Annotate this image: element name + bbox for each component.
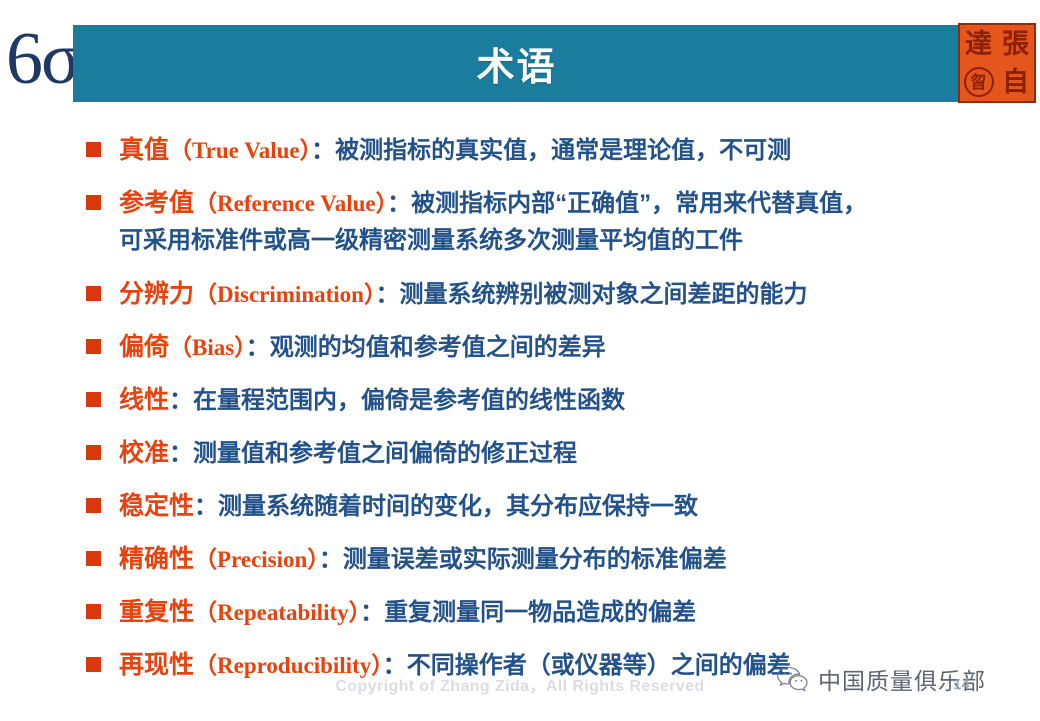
term-english: （Repeatability） bbox=[194, 600, 360, 625]
term-separator: ： bbox=[194, 493, 218, 520]
list-item: 精确性（Precision）：测量误差或实际测量分布的标准偏差 bbox=[86, 541, 986, 578]
seal-round-wrap: 曶 bbox=[960, 63, 997, 101]
term-definition-continued: 可采用标准件或高一级精密测量系统多次测量平均值的工件 bbox=[119, 222, 986, 260]
page-number: 14 bbox=[953, 676, 970, 693]
terminology-list: 真值（True Value）：被测指标的真实值，通常是理论值，不可测 参考值（R… bbox=[86, 132, 986, 700]
seal-char-4: 自 bbox=[997, 63, 1034, 101]
list-item: 分辨力（Discrimination）：测量系统辨别被测对象之间差距的能力 bbox=[86, 276, 986, 313]
list-item: 真值（True Value）：被测指标的真实值，通常是理论值，不可测 bbox=[86, 132, 986, 169]
term-name: 线性 bbox=[119, 386, 169, 414]
list-item: 线性：在量程范围内，偏倚是参考值的线性函数 bbox=[86, 382, 986, 419]
term-english: （Reference Value） bbox=[194, 191, 387, 216]
term-definition: 测量系统辨别被测对象之间差距的能力 bbox=[399, 281, 807, 308]
term-english: （True Value） bbox=[169, 138, 311, 163]
title-bar-content: 术语 bbox=[73, 25, 960, 102]
term-name: 稳定性 bbox=[119, 492, 194, 520]
term-english: （Precision） bbox=[194, 547, 319, 572]
term-name: 重复性 bbox=[119, 598, 194, 626]
page-title: 术语 bbox=[476, 36, 556, 91]
seal-char-3: 曶 bbox=[964, 67, 994, 97]
bullet-square-icon bbox=[86, 142, 101, 157]
bullet-square-icon bbox=[86, 498, 101, 513]
term-definition: 测量系统随着时间的变化，其分布应保持一致 bbox=[218, 493, 698, 520]
bullet-square-icon bbox=[86, 604, 101, 619]
list-item: 校准：测量值和参考值之间偏倚的修正过程 bbox=[86, 435, 986, 472]
term-line: 校准：测量值和参考值之间偏倚的修正过程 bbox=[119, 435, 986, 472]
term-definition: 在量程范围内，偏倚是参考值的线性函数 bbox=[193, 387, 625, 414]
term-name: 参考值 bbox=[119, 189, 194, 217]
term-line: 稳定性：测量系统随着时间的变化，其分布应保持一致 bbox=[119, 488, 986, 525]
term-definition: 被测指标的真实值，通常是理论值，不可测 bbox=[335, 137, 791, 164]
term-line: 分辨力（Discrimination）：测量系统辨别被测对象之间差距的能力 bbox=[119, 276, 986, 313]
term-definition: 观测的均值和参考值之间的差异 bbox=[270, 334, 606, 361]
wechat-icon bbox=[776, 665, 810, 693]
term-line: 真值（True Value）：被测指标的真实值，通常是理论值，不可测 bbox=[119, 132, 986, 169]
term-separator: ： bbox=[169, 440, 193, 467]
list-item: 偏倚（Bias）：观测的均值和参考值之间的差异 bbox=[86, 329, 986, 366]
list-item: 稳定性：测量系统随着时间的变化，其分布应保持一致 bbox=[86, 488, 986, 525]
bullet-square-icon bbox=[86, 657, 101, 672]
term-definition: 重复测量同一物品造成的偏差 bbox=[384, 599, 696, 626]
term-separator: ： bbox=[246, 334, 270, 361]
term-line: 参考值（Reference Value）：被测指标内部“正确值”，常用来代替真值… bbox=[119, 185, 986, 260]
term-english: （Bias） bbox=[169, 335, 246, 360]
term-separator: ： bbox=[169, 387, 193, 414]
term-name: 偏倚 bbox=[119, 333, 169, 361]
term-name: 校准 bbox=[119, 439, 169, 467]
term-definition: 测量误差或实际测量分布的标准偏差 bbox=[343, 546, 727, 573]
bullet-square-icon bbox=[86, 339, 101, 354]
bullet-square-icon bbox=[86, 551, 101, 566]
term-definition: 被测指标内部“正确值”，常用来代替真值， bbox=[411, 190, 867, 217]
seal-char-2: 張 bbox=[997, 25, 1034, 63]
term-definition: 测量值和参考值之间偏倚的修正过程 bbox=[193, 440, 577, 467]
seal-char-1: 達 bbox=[960, 25, 997, 63]
term-line: 线性：在量程范围内，偏倚是参考值的线性函数 bbox=[119, 382, 986, 419]
artist-seal-stamp: 達 張 曶 自 bbox=[958, 23, 1036, 103]
term-name: 真值 bbox=[119, 136, 169, 164]
term-english: （Discrimination） bbox=[194, 282, 375, 307]
term-separator: ： bbox=[360, 599, 384, 626]
term-separator: ： bbox=[375, 281, 399, 308]
slide: 6σ 术语 達 張 曶 自 真值（True Value）：被测指标的真实值，通常… bbox=[0, 0, 1040, 721]
term-separator: ： bbox=[311, 137, 335, 164]
term-line: 偏倚（Bias）：观测的均值和参考值之间的差异 bbox=[119, 329, 986, 366]
term-separator: ： bbox=[319, 546, 343, 573]
term-line: 精确性（Precision）：测量误差或实际测量分布的标准偏差 bbox=[119, 541, 986, 578]
term-name: 分辨力 bbox=[119, 280, 194, 308]
bullet-square-icon bbox=[86, 195, 101, 210]
list-item: 重复性（Repeatability）：重复测量同一物品造成的偏差 bbox=[86, 594, 986, 631]
bullet-square-icon bbox=[86, 286, 101, 301]
list-item: 参考值（Reference Value）：被测指标内部“正确值”，常用来代替真值… bbox=[86, 185, 986, 260]
term-name: 精确性 bbox=[119, 545, 194, 573]
bullet-square-icon bbox=[86, 392, 101, 407]
term-line: 重复性（Repeatability）：重复测量同一物品造成的偏差 bbox=[119, 594, 986, 631]
bullet-square-icon bbox=[86, 445, 101, 460]
term-separator: ： bbox=[387, 190, 411, 217]
